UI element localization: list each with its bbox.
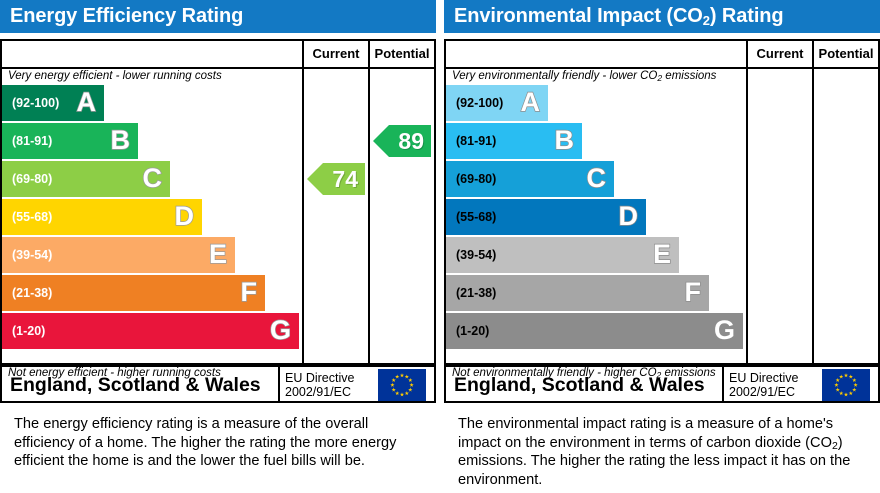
energy-band-letter-d: D: [175, 203, 195, 230]
energy-band-range-b: (81-91): [12, 134, 52, 148]
energy-band-c: (69-80)C: [2, 161, 170, 197]
co2-band-range-d: (55-68): [456, 210, 496, 224]
energy-directive-line-1: EU Directive: [285, 371, 370, 385]
energy-description-text: The energy efficiency rating is a measur…: [14, 415, 414, 471]
co2-band-b: (81-91)B: [446, 123, 582, 159]
energy-footer-directive: EU Directive 2002/91/EC: [278, 367, 370, 403]
co2-band-f: (21-38)F: [446, 275, 709, 311]
energy-directive-line-2: 2002/91/EC: [285, 385, 370, 399]
co2-footer-directive: EU Directive 2002/91/EC: [722, 367, 814, 403]
co2-footer-country: England, Scotland & Wales: [446, 367, 722, 403]
co2-title-subscript: 2: [703, 13, 710, 28]
energy-footer-country: England, Scotland & Wales: [2, 367, 278, 403]
energy-band-letter-g: G: [270, 317, 291, 344]
energy-band-letter-e: E: [209, 241, 227, 268]
energy-band-a: (92-100)A: [2, 85, 104, 121]
co2-description-pre: The environmental impact rating is a mea…: [458, 416, 833, 451]
co2-band-g: (1-20)G: [446, 313, 743, 349]
co2-description-sub: 2: [832, 440, 838, 452]
energy-panel-title: Energy Efficiency Rating: [0, 0, 436, 33]
co2-potential-column-rule: [812, 41, 814, 363]
co2-band-letter-e: E: [653, 241, 671, 268]
co2-footer-row: England, Scotland & Wales EU Directive 2…: [446, 365, 878, 403]
co2-directive-line-1: EU Directive: [729, 371, 814, 385]
energy-potential-rating-value: 89: [398, 128, 424, 155]
co2-band-letter-d: D: [619, 203, 639, 230]
energy-potential-rating-arrow: 89: [373, 125, 431, 157]
co2-band-range-b: (81-91): [456, 134, 496, 148]
energy-band-range-e: (39-54): [12, 248, 52, 262]
co2-caption-top-pre: Very environmentally friendly - lower CO: [452, 70, 657, 82]
energy-band-range-c: (69-80): [12, 172, 52, 186]
co2-band-c: (69-80)C: [446, 161, 614, 197]
co2-band-letter-c: C: [587, 165, 607, 192]
energy-band-letter-b: B: [111, 127, 131, 154]
co2-caption-top-post: emissions: [662, 70, 716, 82]
co2-potential-column-header: Potential: [814, 41, 878, 67]
energy-band-range-f: (21-38): [12, 286, 52, 300]
energy-band-f: (21-38)F: [2, 275, 265, 311]
energy-band-e: (39-54)E: [2, 237, 235, 273]
co2-band-d: (55-68)D: [446, 199, 646, 235]
co2-band-range-g: (1-20): [456, 324, 489, 338]
environmental-impact-panel: Environmental Impact (CO2) Rating Curren…: [444, 0, 880, 493]
co2-chart-table: Current Potential Very environmentally f…: [444, 39, 880, 403]
energy-current-rating-arrow: 74: [307, 163, 365, 195]
epc-chart-page: Energy Efficiency Rating Current Potenti…: [0, 0, 880, 493]
co2-band-range-f: (21-38): [456, 286, 496, 300]
co2-band-range-c: (69-80): [456, 172, 496, 186]
energy-efficiency-panel: Energy Efficiency Rating Current Potenti…: [0, 0, 436, 493]
energy-band-g: (1-20)G: [2, 313, 299, 349]
co2-footer-flag-box: [814, 367, 878, 403]
co2-current-column-header: Current: [748, 41, 812, 67]
co2-band-letter-a: A: [521, 89, 541, 116]
energy-current-column-header: Current: [304, 41, 368, 67]
energy-band-letter-f: F: [241, 279, 258, 306]
energy-caption-top: Very energy efficient - lower running co…: [8, 70, 222, 82]
co2-band-list: (92-100)A(81-91)B(69-80)C(55-68)D(39-54)…: [446, 85, 746, 351]
energy-band-range-a: (92-100): [12, 96, 59, 110]
co2-band-range-a: (92-100): [456, 96, 503, 110]
co2-band-letter-g: G: [714, 317, 735, 344]
energy-current-rating-value: 74: [332, 166, 358, 193]
co2-band-range-e: (39-54): [456, 248, 496, 262]
energy-footer-flag-box: [370, 367, 434, 403]
energy-band-letter-c: C: [143, 165, 163, 192]
co2-current-column-rule: [746, 41, 748, 363]
co2-caption-top-sub: 2: [657, 73, 662, 83]
co2-band-a: (92-100)A: [446, 85, 548, 121]
energy-band-range-d: (55-68): [12, 210, 52, 224]
energy-footer-row: England, Scotland & Wales EU Directive 2…: [2, 365, 434, 403]
eu-flag-icon: [818, 369, 874, 401]
co2-band-letter-b: B: [555, 127, 575, 154]
energy-potential-column-header: Potential: [370, 41, 434, 67]
energy-chart-table: Current Potential Very energy efficient …: [0, 39, 436, 403]
energy-potential-column-rule: [368, 41, 370, 363]
energy-band-letter-a: A: [77, 89, 97, 116]
eu-flag-icon: [374, 369, 430, 401]
energy-band-d: (55-68)D: [2, 199, 202, 235]
co2-band-e: (39-54)E: [446, 237, 679, 273]
co2-panel-title: Environmental Impact (CO2) Rating: [444, 0, 880, 33]
co2-title-main: Environmental Impact (CO: [454, 5, 703, 27]
energy-band-range-g: (1-20): [12, 324, 45, 338]
energy-band-b: (81-91)B: [2, 123, 138, 159]
co2-band-letter-f: F: [685, 279, 702, 306]
co2-caption-top: Very environmentally friendly - lower CO…: [452, 70, 716, 82]
co2-title-tail: ) Rating: [710, 5, 784, 27]
energy-band-list: (92-100)A(81-91)B(69-80)C(55-68)D(39-54)…: [2, 85, 302, 351]
co2-directive-line-2: 2002/91/EC: [729, 385, 814, 399]
energy-current-column-rule: [302, 41, 304, 363]
co2-description-text: The environmental impact rating is a mea…: [458, 415, 858, 490]
